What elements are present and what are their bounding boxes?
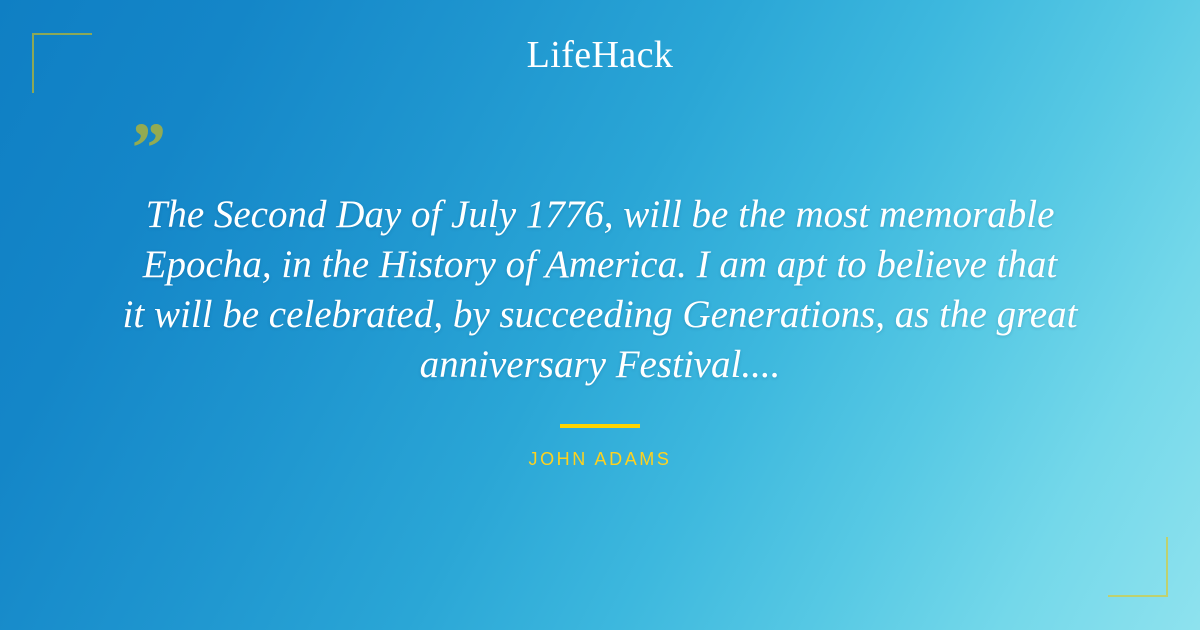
- quote-card: LifeHack ” The Second Day of July 1776, …: [0, 0, 1200, 630]
- corner-bracket-bottom-right-icon: [1108, 537, 1168, 597]
- brand-logo: LifeHack: [0, 36, 1200, 74]
- quotation-mark-icon: ”: [128, 112, 162, 184]
- attribution: JOHN ADAMS: [0, 424, 1200, 468]
- attribution-divider: [560, 424, 640, 428]
- author-name: JOHN ADAMS: [0, 450, 1200, 468]
- quote-text: The Second Day of July 1776, will be the…: [80, 190, 1120, 390]
